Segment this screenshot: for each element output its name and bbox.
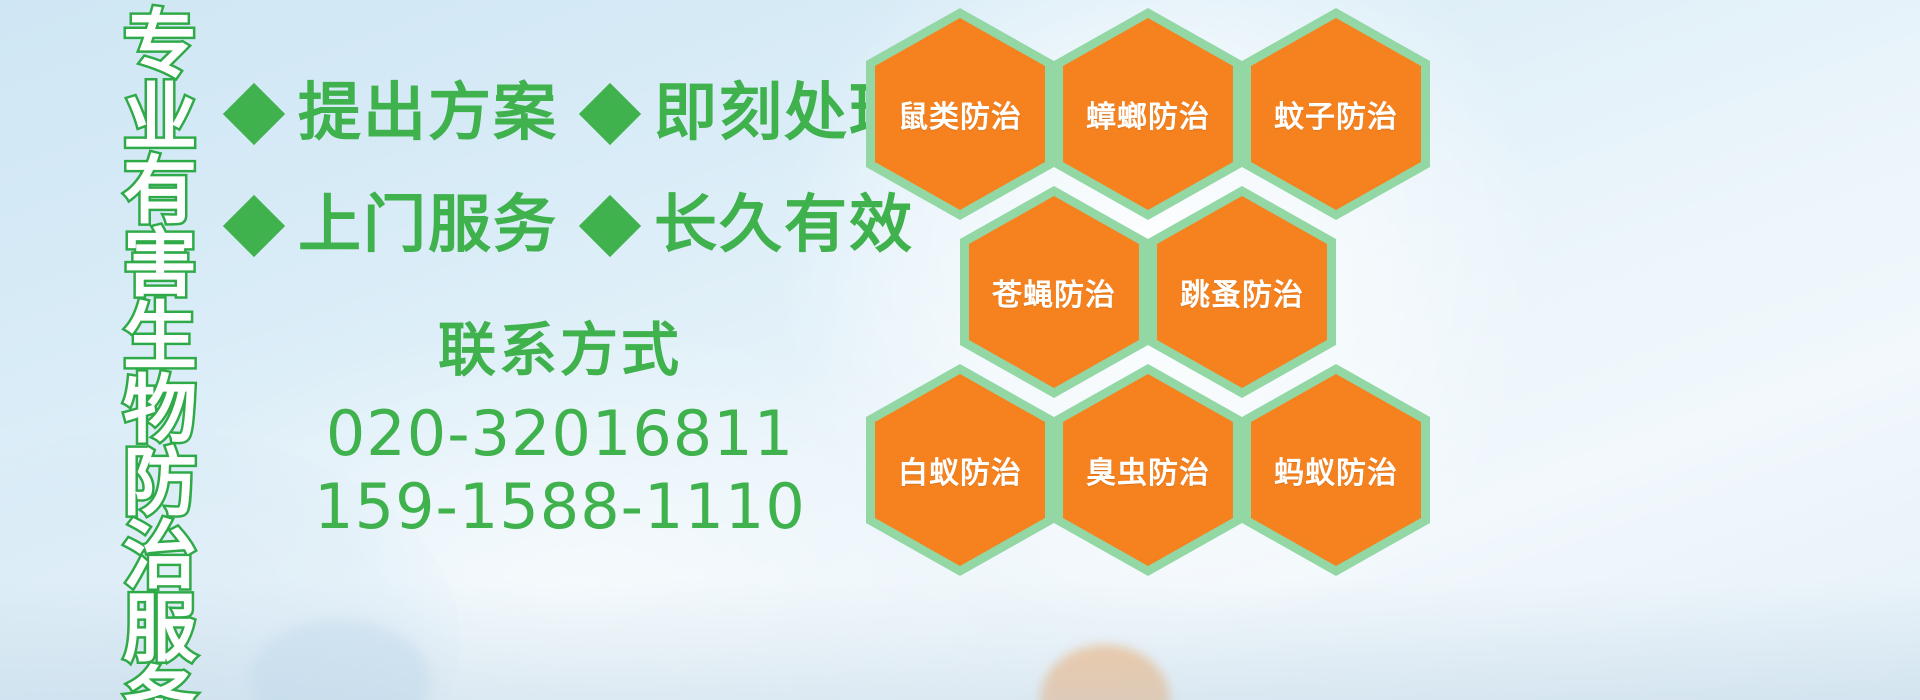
hex-cell-label: 蚊子防治 xyxy=(1274,92,1398,136)
hex-cell-label: 蚂蚁防治 xyxy=(1274,448,1398,492)
vertical-headline-char: 防 xyxy=(123,446,197,519)
vertical-headline-char: 务 xyxy=(123,665,197,700)
feature-label: 上门服务 xyxy=(298,194,558,257)
vertical-headline-char: 服 xyxy=(123,592,197,665)
background-blob-left xyxy=(250,620,430,700)
hex-cell-label: 蟑螂防治 xyxy=(1086,92,1210,136)
diamond-bullet-icon xyxy=(223,194,285,256)
pest-control-banner: 专 业 有 害 生 物 防 治 服 务 提出方案 即刻处理 上门服务 长久有效 xyxy=(0,0,1920,700)
hex-cell-label: 鼠类防治 xyxy=(898,92,1022,136)
vertical-headline-char: 生 xyxy=(123,300,197,373)
vertical-headline-char: 专 xyxy=(123,8,197,81)
contact-block: 联系方式 020-32016811 159-1588-1110 xyxy=(300,318,820,543)
vertical-headline-char: 害 xyxy=(123,227,197,300)
feature-row: 上门服务 长久有效 xyxy=(232,194,914,257)
feature-item-propose-plan: 提出方案 xyxy=(232,82,558,145)
diamond-bullet-icon xyxy=(579,82,641,144)
feature-item-onsite-service: 上门服务 xyxy=(232,194,558,257)
hex-cell-bedbug-control[interactable]: 臭虫防治 xyxy=(1054,364,1242,576)
feature-label: 提出方案 xyxy=(298,82,558,145)
vertical-headline-char: 治 xyxy=(123,519,197,592)
hex-cell-label: 跳蚤防治 xyxy=(1180,270,1304,314)
vertical-headline-char: 业 xyxy=(123,81,197,154)
vertical-headline: 专 业 有 害 生 物 防 治 服 务 xyxy=(108,8,212,688)
hex-cell-termite-control[interactable]: 白蚁防治 xyxy=(866,364,1054,576)
diamond-bullet-icon xyxy=(579,194,641,256)
contact-title: 联系方式 xyxy=(300,318,820,385)
hex-cell-ant-control[interactable]: 蚂蚁防治 xyxy=(1242,364,1430,576)
vertical-headline-char: 有 xyxy=(123,154,197,227)
service-honeycomb: 鼠类防治 蟑螂防治 蚊子防治 苍蝇防治 跳蚤防治 白蚁防治 xyxy=(858,0,1458,700)
hex-cell-label: 白蚁防治 xyxy=(898,448,1022,492)
phone-number-mobile[interactable]: 159-1588-1110 xyxy=(300,470,820,543)
vertical-headline-char: 物 xyxy=(123,373,197,446)
phone-number-landline[interactable]: 020-32016811 xyxy=(300,397,820,470)
diamond-bullet-icon xyxy=(223,82,285,144)
hex-cell-label: 苍蝇防治 xyxy=(992,270,1116,314)
hex-cell-label: 臭虫防治 xyxy=(1086,448,1210,492)
feature-row: 提出方案 即刻处理 xyxy=(232,82,914,145)
